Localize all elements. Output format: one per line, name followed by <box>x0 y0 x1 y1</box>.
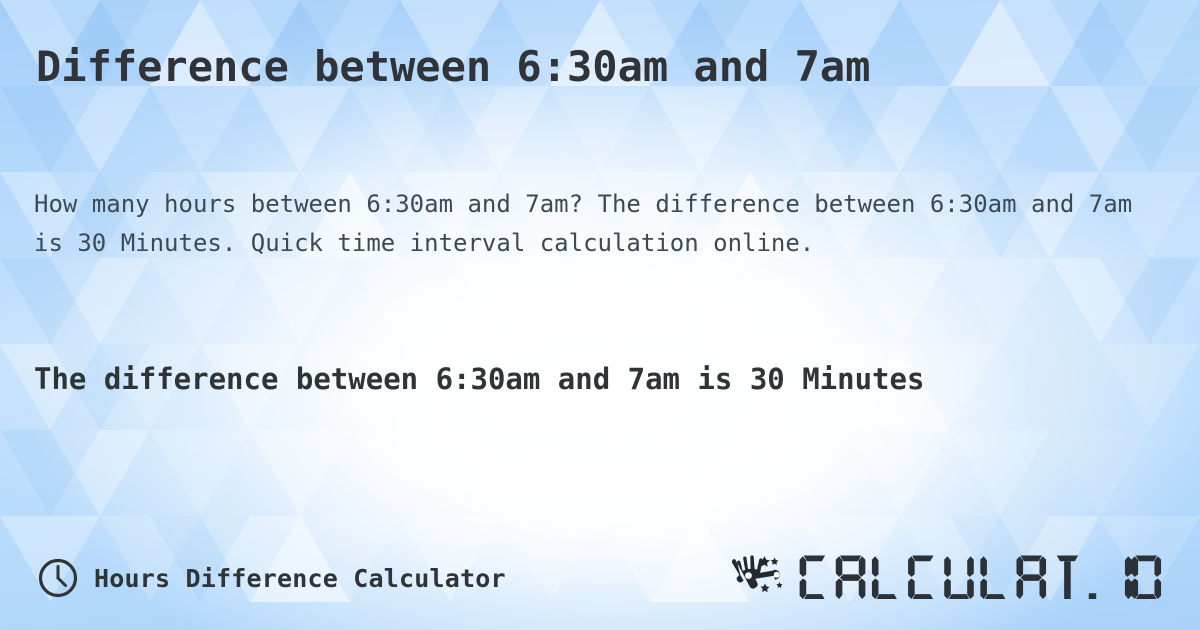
footer-label-text: Hours Difference Calculator <box>94 564 506 593</box>
page-description: How many hours between 6:30am and 7am? T… <box>34 185 1144 263</box>
brand-wordmark <box>798 553 1182 599</box>
page-title: Difference between 6:30am and 7am <box>36 40 1176 94</box>
og-image-card: Difference between 6:30am and 7am How ma… <box>0 0 1200 630</box>
result-statement: The difference between 6:30am and 7am is… <box>34 355 1114 404</box>
magic-wand-hand-icon <box>726 550 790 602</box>
footer-calculator-label: Hours Difference Calculator <box>36 556 506 600</box>
brand-logo[interactable] <box>726 550 1182 602</box>
clock-icon <box>36 556 80 600</box>
